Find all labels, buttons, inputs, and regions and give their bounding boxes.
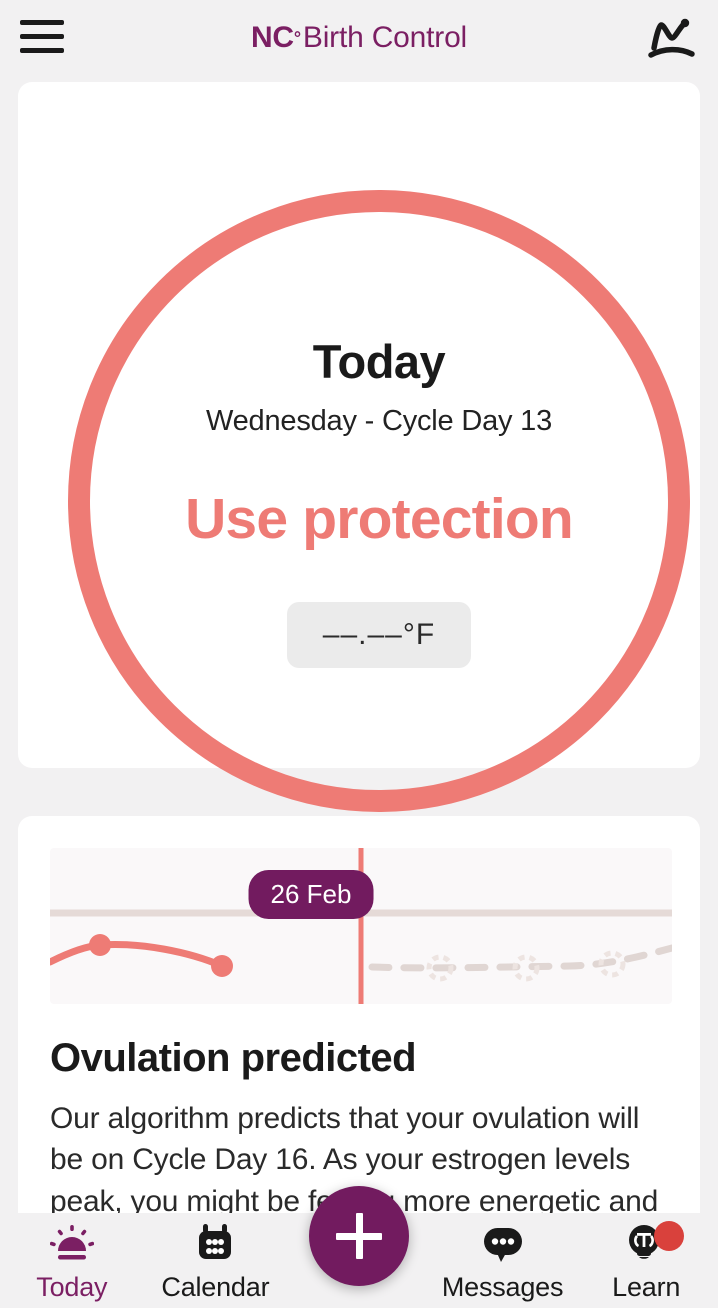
brand-mark: NC bbox=[251, 21, 294, 55]
nav-label-learn: Learn bbox=[612, 1272, 680, 1303]
status-message: Use protection bbox=[185, 486, 573, 552]
chart-date-badge: 26 Feb bbox=[249, 870, 374, 919]
bottom-navigation: Today Calendar bbox=[0, 1213, 718, 1308]
cycle-day-subtitle: Wednesday - Cycle Day 13 bbox=[206, 405, 552, 438]
plus-icon bbox=[356, 1213, 363, 1259]
app-root: NC°Birth Control Today Wednesday - Cycle… bbox=[0, 0, 718, 1308]
brand-name: Birth Control bbox=[303, 21, 467, 55]
app-title: NC°Birth Control bbox=[0, 0, 718, 76]
nav-label-calendar: Calendar bbox=[161, 1272, 269, 1303]
calendar-icon bbox=[193, 1223, 237, 1265]
message-bubble-icon bbox=[480, 1223, 526, 1265]
nav-item-calendar[interactable]: Calendar bbox=[144, 1213, 288, 1303]
nav-label-today: Today bbox=[36, 1272, 107, 1303]
lightbulb-icon bbox=[624, 1223, 668, 1265]
add-entry-button[interactable] bbox=[309, 1186, 409, 1286]
temperature-input[interactable]: ––.––°F bbox=[287, 602, 471, 668]
page-title: Today bbox=[313, 334, 445, 389]
nav-item-learn[interactable]: Learn bbox=[574, 1213, 718, 1303]
sunrise-icon bbox=[50, 1223, 94, 1265]
chart-line-icon[interactable] bbox=[642, 8, 700, 66]
nav-item-messages[interactable]: Messages bbox=[431, 1213, 575, 1303]
app-header: NC°Birth Control bbox=[0, 0, 718, 76]
chart-data-point bbox=[211, 955, 233, 977]
nav-label-messages: Messages bbox=[442, 1272, 563, 1303]
nav-item-today[interactable]: Today bbox=[0, 1213, 144, 1303]
ovulation-title: Ovulation predicted bbox=[50, 1036, 416, 1081]
notification-badge bbox=[654, 1221, 684, 1251]
chart-recorded-line bbox=[50, 944, 222, 966]
today-summary-card[interactable]: Today Wednesday - Cycle Day 13 Use prote… bbox=[18, 82, 700, 768]
cycle-status-content: Today Wednesday - Cycle Day 13 Use prote… bbox=[68, 190, 690, 812]
chart-data-point bbox=[89, 934, 111, 956]
